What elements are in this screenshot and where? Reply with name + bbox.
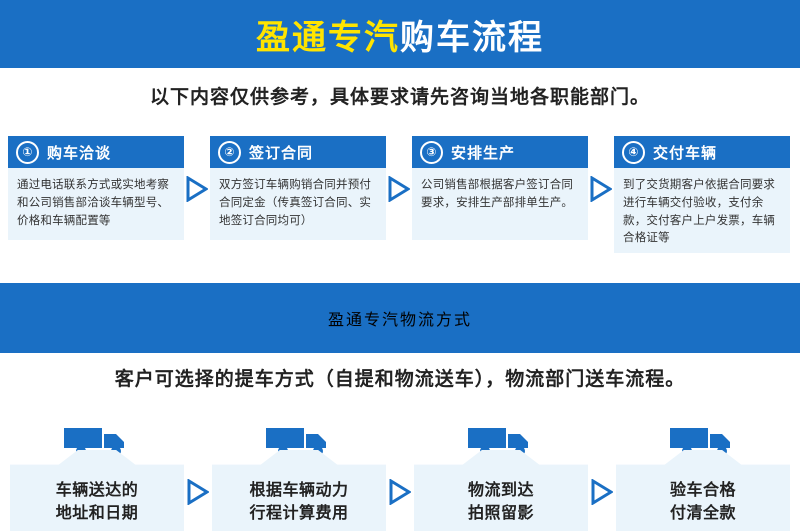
step-title: 安排生产 [451,142,515,163]
logistics-panel: 根据车辆动力 行程计算费用 [212,450,386,531]
logistics-panel: 车辆送达的 地址和日期 [10,450,184,531]
step-arrow-icon [386,136,412,242]
step-number-icon: ④ [622,141,645,164]
section1-banner-text: 盈通专汽 购车流程 [256,10,544,59]
step-header: ④ 交付车辆 [614,136,790,168]
step-header: ② 签订合同 [210,136,386,168]
step-body: 公司销售部根据客户签订合同要求，安排生产部排单生产。 [412,168,588,240]
section2-title-rest: 物流方式 [400,306,472,330]
step-number-icon: ③ [420,141,443,164]
section2-title-highlight: 盈通专汽 [328,306,400,330]
step-header: ③ 安排生产 [412,136,588,168]
step-title: 交付车辆 [653,142,717,163]
logistics-line1: 验车合格 [616,478,790,501]
step-card: ① 购车洽谈 通过电话联系方式或实地考察和公司销售部洽谈车辆型号、价格和车辆配置… [8,136,184,240]
logistics-line2: 拍照留影 [414,501,588,524]
step-card: ② 签订合同 双方签订车辆购销合同并预付合同定金（传真签订合同、实地签订合同均可… [210,136,386,240]
step-title: 购车洽谈 [47,142,111,163]
step-title: 签订合同 [249,142,313,163]
step-arrow-icon [184,136,210,242]
section2-banner-text: 盈通专汽 物流方式 [328,306,472,330]
page-root: 盈通专汽 购车流程 以下内容仅供参考，具体要求请先咨询当地各职能部门。 ① 购车… [0,0,800,531]
step-card: ④ 交付车辆 到了交货期客户依据合同要求进行车辆交付验收，支付余款，交付客户上户… [614,136,790,253]
logistics-panel: 物流到达 拍照留影 [414,450,588,531]
logistics-line2: 付清全款 [616,501,790,524]
logistics-line1: 根据车辆动力 [212,478,386,501]
logistics-cell: 物流到达 拍照留影 [414,418,588,531]
logistics-panel: 验车合格 付清全款 [616,450,790,531]
logistics-line1: 车辆送达的 [10,478,184,501]
purchase-steps: ① 购车洽谈 通过电话联系方式或实地考察和公司销售部洽谈车辆型号、价格和车辆配置… [8,136,792,242]
step-arrow-icon [588,136,614,242]
logistics-line2: 行程计算费用 [212,501,386,524]
section1-banner: 盈通专汽 购车流程 [0,0,800,68]
section1-title-highlight: 盈通专汽 [256,10,400,59]
step-body: 到了交货期客户依据合同要求进行车辆交付验收，支付余款，交付客户上户发票，车辆合格… [614,168,790,253]
section1-subtitle: 以下内容仅供参考，具体要求请先咨询当地各职能部门。 [0,82,800,109]
logistics-cell: 验车合格 付清全款 [616,418,790,531]
logistics-cell: 根据车辆动力 行程计算费用 [212,418,386,531]
step-number-icon: ② [218,141,241,164]
logistics-arrow-icon [588,418,616,531]
section2-subtitle: 客户可选择的提车方式（自提和物流送车），物流部门送车流程。 [0,364,800,391]
logistics-cell: 车辆送达的 地址和日期 [10,418,184,531]
step-body: 双方签订车辆购销合同并预付合同定金（传真签订合同、实地签订合同均可） [210,168,386,240]
logistics-steps: 车辆送达的 地址和日期 根据车辆动力 行程计算费用 [10,418,790,531]
step-header: ① 购车洽谈 [8,136,184,168]
logistics-line2: 地址和日期 [10,501,184,524]
section2-banner: 盈通专汽 物流方式 [0,283,800,353]
logistics-arrow-icon [386,418,414,531]
step-card: ③ 安排生产 公司销售部根据客户签订合同要求，安排生产部排单生产。 [412,136,588,240]
step-number-icon: ① [16,141,39,164]
logistics-arrow-icon [184,418,212,531]
section1-title-rest: 购车流程 [400,10,544,59]
logistics-line1: 物流到达 [414,478,588,501]
step-body: 通过电话联系方式或实地考察和公司销售部洽谈车辆型号、价格和车辆配置等 [8,168,184,240]
